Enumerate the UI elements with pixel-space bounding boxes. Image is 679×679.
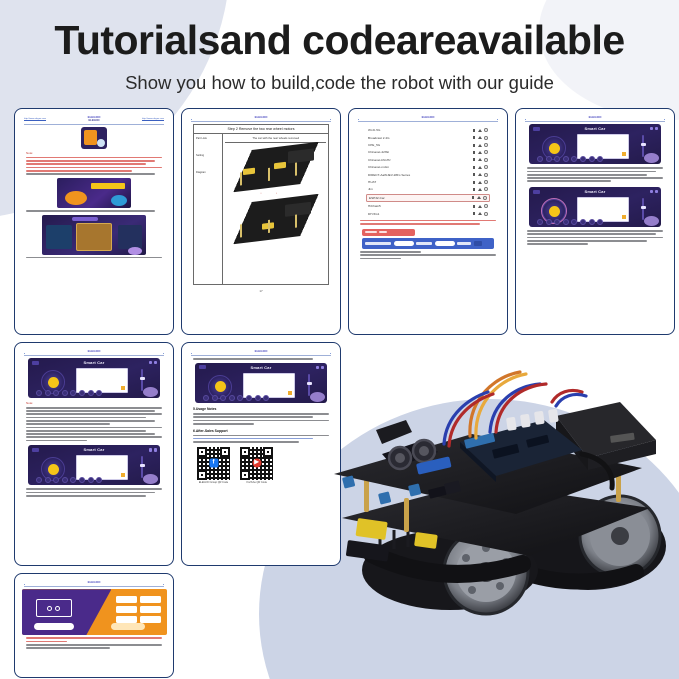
assembly-step-left-column: Part Lists Setting Diagram — [194, 134, 223, 284]
signal-icon — [478, 129, 482, 132]
page-header-left-link — [24, 582, 25, 584]
wifi-list-item[interactable]: Chinanet-mdxn — [368, 165, 488, 169]
qr-code-facebook[interactable]: f — [197, 447, 230, 480]
wifi-ssid: Wi-Fi-5G — [368, 128, 380, 132]
brand-line-1: ELEGOO — [255, 349, 268, 353]
page-brand-logo: ELEGOO ELEGOO — [88, 116, 101, 122]
page-header-divider — [525, 121, 665, 122]
page-header-right-link — [330, 351, 331, 353]
page-header-strip: ELEGOO — [521, 113, 669, 119]
lock-icon — [473, 144, 475, 147]
page-brand-logo: ELEGOO — [589, 116, 602, 119]
page-header-strip: ELEGOO — [20, 578, 168, 584]
radio-icon[interactable] — [484, 173, 488, 177]
wifi-list-item[interactable]: Wi-Fi-5G — [368, 128, 488, 132]
smart-car-app-screenshot: Smart Car — [28, 358, 160, 398]
settings-icon[interactable] — [650, 127, 653, 130]
intro-line — [187, 358, 335, 360]
wifi-list-item[interactable]: Jim — [368, 187, 488, 191]
signal-icon — [478, 173, 482, 176]
planet-decoration — [644, 153, 659, 163]
app-title-bar: Smart Car — [529, 188, 661, 195]
lock-icon — [473, 166, 475, 169]
wifi-ssid: DIRECT-AaWJEV-28Fs Series — [368, 173, 410, 177]
speed-slider[interactable] — [141, 456, 143, 478]
qr-code-group: f ELEGOO Group QR Code ▶ YouTube QR Code — [187, 443, 335, 485]
link-icon[interactable] — [655, 127, 658, 130]
lock-icon — [473, 188, 475, 191]
after-sales-heading: 6.After-Sales Support — [193, 429, 329, 433]
brand-line-1: ELEGOO — [88, 349, 101, 353]
page-header-strip: ELEGOO — [20, 347, 168, 353]
page-header-right-link — [163, 351, 164, 353]
part-list-label: Part Lists — [196, 137, 220, 140]
page-note-block: Note: — [20, 401, 168, 441]
after-sales-text — [187, 435, 335, 443]
app-title: Smart Car — [585, 189, 606, 194]
app-back-icon[interactable] — [32, 361, 39, 365]
speed-slider[interactable] — [642, 135, 644, 157]
app-title: Smart Car — [251, 365, 272, 370]
page-header-strip: ELEGOO — [187, 347, 335, 353]
page-header-divider — [191, 121, 331, 122]
page-header-divider — [24, 586, 164, 587]
scratch-code-blocks — [362, 229, 494, 249]
wifi-ssid: Chinanet-mdxn — [368, 165, 389, 169]
signal-icon — [478, 136, 482, 139]
settings-icon[interactable] — [650, 190, 653, 193]
planet-decoration — [143, 387, 158, 397]
speed-slider[interactable] — [642, 198, 644, 220]
radio-icon[interactable] — [484, 143, 488, 147]
wifi-row-icons — [473, 136, 488, 140]
radio-icon[interactable] — [484, 212, 488, 216]
assembly-step-table: Step 2 Remove the two rear wheel motors … — [193, 124, 329, 285]
page-header-strip: ELEGOO — [187, 113, 335, 119]
page-header-strip: ELEGOO — [354, 113, 502, 119]
doc-card-app-intro[interactable]: http://www.elegoo.com ELEGOO ELEGOO http… — [14, 108, 174, 335]
brand-line-1: ELEGOO — [589, 115, 602, 119]
page-brand-logo: ELEGOO — [88, 350, 101, 353]
link-icon[interactable] — [655, 190, 658, 193]
smart-car-app-screenshot: Smart Car — [529, 124, 661, 164]
wifi-list-item[interactable]: DH-5G1 — [368, 212, 488, 216]
qr-code-youtube-wrap: ▶ YouTube QR Code — [240, 447, 273, 485]
page-note-text: Note: — [20, 151, 168, 175]
qr-code-right-label: YouTube QR Code — [240, 481, 273, 484]
wifi-list-item[interactable]: HiChain5 — [368, 204, 488, 208]
planet-decoration — [644, 216, 659, 226]
chassis-diagram-top — [233, 141, 319, 192]
page-header: Tutorialsand codeareavailable Show you h… — [0, 0, 679, 94]
facebook-icon: f — [209, 459, 218, 468]
signal-icon — [478, 181, 482, 184]
doc-card-wifi-setup[interactable]: ELEGOO Wi-Fi-5G Broadcast 2.4G CPE_5G — [348, 108, 508, 335]
smart-car-app-screenshot: Smart Car — [195, 363, 327, 403]
function-button-row[interactable] — [36, 390, 102, 396]
radio-icon[interactable] — [484, 165, 488, 169]
lock-icon — [473, 151, 475, 154]
wifi-list-item[interactable]: DIRECT-AaWJEV-28Fs Series — [368, 173, 488, 177]
page-subtitle: Show you how to build,code the robot wit… — [0, 72, 679, 94]
wifi-ssid: DH-5G1 — [368, 212, 379, 216]
signal-icon — [478, 166, 482, 169]
radio-icon[interactable] — [484, 128, 488, 132]
app-title: Smart Car — [84, 360, 105, 365]
app-status-icons — [149, 448, 157, 451]
brand-line-2: ELEGOO — [88, 119, 99, 122]
note-heading: Note: — [26, 151, 162, 155]
doc-card-smart-car-control-2[interactable]: ELEGOO Smart Car Note: — [14, 342, 174, 566]
youtube-icon: ▶ — [252, 459, 261, 468]
app-status-icons — [650, 127, 658, 130]
page-header-strip: http://www.elegoo.com ELEGOO ELEGOO http… — [20, 113, 168, 122]
wifi-row-icons — [473, 212, 488, 216]
wifi-network-list[interactable]: Wi-Fi-5G Broadcast 2.4G CPE_5G Chinanet-… — [354, 124, 502, 215]
app-back-icon[interactable] — [32, 448, 39, 452]
chassis-diagram-bottom — [233, 193, 319, 244]
doc-card-program-interface[interactable]: ELEGOO — [14, 573, 174, 678]
app-status-icons — [650, 190, 658, 193]
right-action-button[interactable] — [111, 623, 145, 630]
lock-icon — [473, 158, 475, 161]
app-back-icon[interactable] — [199, 365, 206, 369]
signal-icon — [478, 212, 482, 215]
signal-icon — [478, 158, 482, 161]
page-number: 17 — [187, 289, 335, 293]
lock-icon — [472, 196, 474, 199]
after-sales-section: 6.After-Sales Support — [187, 429, 335, 433]
page-brand-logo: ELEGOO — [255, 350, 268, 353]
gyroscope-description-text — [20, 488, 168, 496]
code-block-event[interactable] — [362, 229, 415, 236]
control-description-text-2 — [521, 230, 669, 245]
radio-icon[interactable] — [484, 187, 488, 191]
lock-icon — [473, 212, 475, 215]
radio-icon[interactable] — [484, 180, 488, 184]
assembly-step-right-column: The car with the rear wheels removed ↓↓ — [223, 134, 328, 284]
qr-code-youtube[interactable]: ▶ — [240, 447, 273, 480]
function-button-row[interactable] — [36, 477, 102, 483]
app-title-bar: Smart Car — [28, 446, 160, 453]
page-body-text-2 — [20, 257, 168, 259]
code-block-wifi-connect[interactable] — [362, 238, 494, 249]
link-icon[interactable] — [154, 448, 157, 451]
radio-icon[interactable] — [484, 136, 488, 140]
page-header-divider — [358, 121, 498, 122]
lock-icon — [473, 181, 475, 184]
smart-car-app-screenshot-2: Smart Car — [529, 187, 661, 227]
robot-car-photo: Tracked smart robot car with ultrasonic … — [320, 358, 672, 638]
settings-icon[interactable] — [316, 366, 319, 369]
signal-icon — [478, 151, 482, 154]
wifi-row-icons — [473, 187, 488, 191]
usage-notes-section: 5.Usage Notes — [187, 407, 335, 411]
wifi-list-item-selected[interactable]: ESP32-Car — [366, 194, 490, 202]
app-title-bar: Smart Car — [195, 364, 327, 371]
page-header-left-link — [358, 117, 359, 119]
wifi-ssid: Broadcast 2.4G — [368, 136, 390, 140]
page-brand-logo: ELEGOO — [422, 116, 435, 119]
wifi-row-icons — [473, 158, 488, 162]
function-button-row[interactable] — [537, 219, 603, 225]
wifi-row-icons — [473, 165, 488, 169]
radio-icon[interactable] — [484, 158, 488, 162]
left-action-button[interactable] — [34, 623, 74, 630]
wifi-list-item[interactable]: HUAT — [368, 180, 488, 184]
assembly-step-body: Part Lists Setting Diagram The car with … — [194, 134, 328, 284]
page-body-text-1 — [20, 210, 168, 212]
doc-card-smart-car-control-1[interactable]: ELEGOO Smart Car — [515, 108, 675, 335]
lock-icon — [473, 136, 475, 139]
control-description-text-1 — [521, 167, 669, 182]
wifi-row-icons — [473, 128, 488, 132]
signal-icon — [477, 196, 481, 199]
wifi-ssid: CPE_5G — [368, 143, 380, 147]
setting-label: Setting — [196, 154, 220, 157]
doc-card-assembly-step-2[interactable]: ELEGOO Step 2 Remove the two rear wheel … — [181, 108, 341, 335]
page-header-left-link — [191, 351, 192, 353]
app-title: Smart Car — [84, 447, 105, 452]
usage-notes-text — [187, 413, 335, 425]
wifi-row-icons — [473, 180, 488, 184]
assembly-step-title: Step 2 Remove the two rear wheel motors — [194, 125, 328, 134]
radio-icon[interactable] — [484, 204, 488, 208]
signal-icon — [478, 144, 482, 147]
brand-line-1: ELEGOO — [255, 115, 268, 119]
wifi-row-icons — [473, 173, 488, 177]
app-back-icon[interactable] — [533, 190, 540, 194]
link-icon[interactable] — [154, 361, 157, 364]
controller-illustration — [36, 599, 72, 617]
wifi-ssid: HUAT — [368, 180, 376, 184]
page-brand-logo: ELEGOO — [255, 116, 268, 119]
app-title-bar: Smart Car — [529, 125, 661, 132]
settings-icon[interactable] — [149, 361, 152, 364]
wifi-ssid: Chinanet-bNxHz — [368, 158, 391, 162]
page-header-right-link: http://www.elegoo.com — [142, 118, 164, 120]
page-header-left-link: http://www.elegoo.com — [24, 118, 46, 120]
app-model-picker-screenshot — [20, 215, 168, 255]
qr-code-left-label: ELEGOO Group QR Code — [197, 481, 230, 484]
settings-icon[interactable] — [149, 448, 152, 451]
page-brand-logo: ELEGOO — [88, 581, 101, 584]
planet-decoration — [143, 474, 158, 484]
page-header-divider — [24, 124, 164, 125]
signal-icon — [478, 188, 482, 191]
app-title-bar: Smart Car — [28, 359, 160, 366]
wifi-list-item[interactable]: Chinanet-42fbit — [368, 150, 488, 154]
page-header-divider — [191, 355, 331, 356]
app-status-icons — [149, 361, 157, 364]
wifi-row-icons — [473, 204, 488, 208]
program-card-grid[interactable] — [116, 596, 161, 623]
function-button-row[interactable] — [203, 395, 269, 401]
lock-icon — [473, 173, 475, 176]
signal-icon — [478, 205, 482, 208]
wifi-row-icons — [473, 150, 488, 154]
page-header-left-link — [24, 351, 25, 353]
speed-slider[interactable] — [308, 374, 310, 396]
note-heading: Note: — [26, 401, 162, 405]
lock-icon — [473, 205, 475, 208]
wifi-note-text — [354, 220, 502, 225]
brand-line-1: ELEGOO — [88, 580, 101, 584]
program-note-text — [20, 637, 168, 649]
app-back-icon[interactable] — [533, 127, 540, 131]
smart-car-app-screenshot-2: Smart Car — [28, 445, 160, 485]
function-button-row[interactable] — [537, 156, 603, 162]
page-header-right-link — [163, 582, 164, 584]
brand-line-1: ELEGOO — [422, 115, 435, 119]
program-split-screen-mock — [22, 589, 167, 635]
wifi-ssid-selected: ESP32-Car — [369, 196, 385, 200]
page-header-divider — [24, 355, 164, 356]
page-header-right-link — [330, 117, 331, 119]
gallery-row-1: http://www.elegoo.com ELEGOO ELEGOO http… — [14, 108, 665, 335]
page-header-right-link — [497, 117, 498, 119]
page-title: Tutorialsand codeareavailable — [0, 18, 679, 62]
usage-notes-heading: 5.Usage Notes — [193, 407, 329, 411]
wifi-list-item[interactable]: CPE_5G — [368, 143, 488, 147]
doc-card-usage-and-support[interactable]: ELEGOO Smart Car — [181, 342, 341, 566]
page-header-right-link — [664, 117, 665, 119]
lock-icon — [473, 129, 475, 132]
qr-code-facebook-wrap: f ELEGOO Group QR Code — [197, 447, 230, 485]
wifi-list-item[interactable]: Broadcast 2.4G — [368, 136, 488, 140]
wifi-row-icons — [472, 196, 487, 200]
wifi-list-item[interactable]: Chinanet-bNxHz — [368, 158, 488, 162]
wifi-ssid: HiChain5 — [368, 204, 381, 208]
radio-icon[interactable] — [483, 196, 487, 200]
radio-icon[interactable] — [484, 150, 488, 154]
app-splash-screenshot — [20, 178, 168, 208]
app-title: Smart Car — [585, 126, 606, 131]
diagram-label: Diagram — [196, 171, 220, 174]
page-header-left-link — [191, 117, 192, 119]
speed-slider[interactable] — [141, 369, 143, 391]
wifi-instruction-text — [354, 251, 502, 259]
app-icon-illustration — [20, 127, 168, 149]
wifi-row-icons — [473, 143, 488, 147]
wifi-ssid: Jim — [368, 187, 373, 191]
wifi-ssid: Chinanet-42fbit — [368, 150, 389, 154]
page-header-left-link — [525, 117, 526, 119]
